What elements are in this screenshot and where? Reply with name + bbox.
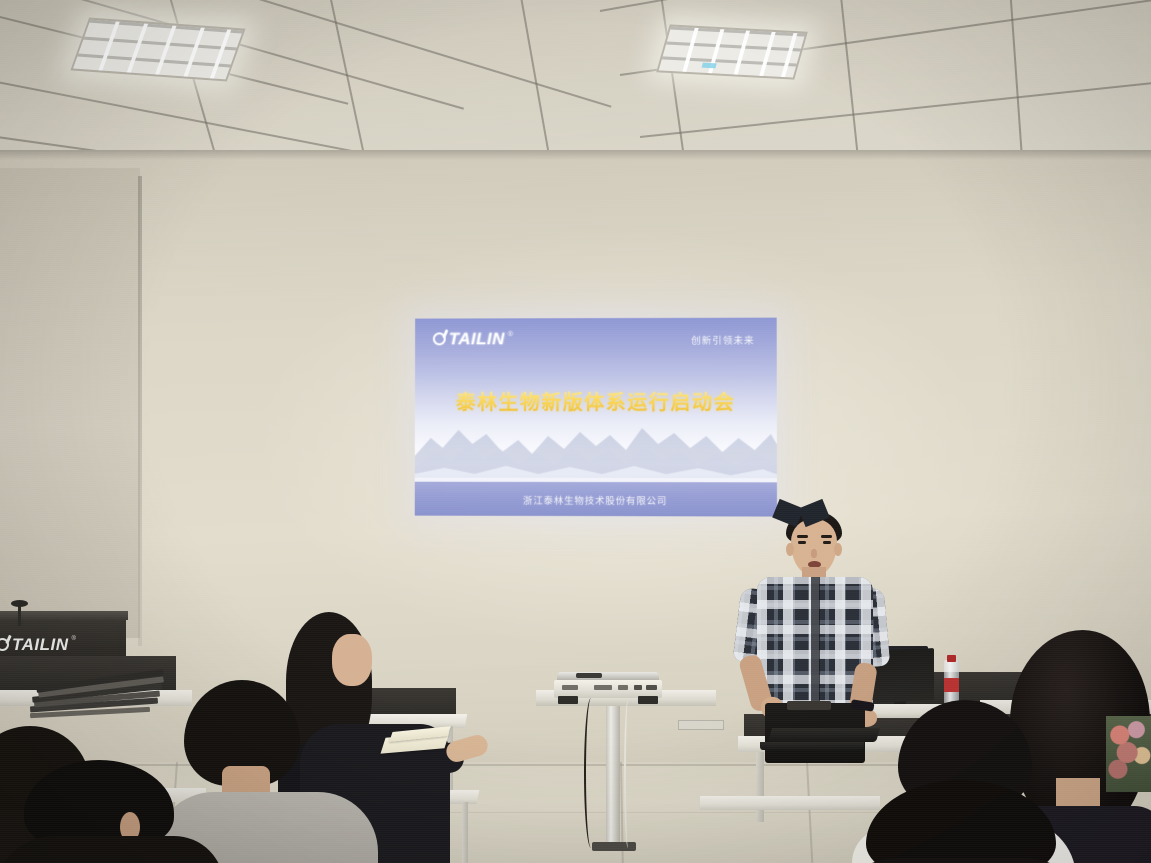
tailin-droplet-ring-icon (0, 638, 9, 651)
projector-power-cable (584, 698, 598, 848)
ceiling-light-left (70, 17, 245, 81)
desk-surface-lowerright (700, 796, 880, 810)
desk-leg (756, 752, 764, 822)
slide-company-name: 浙江泰林生物技术股份有限公司 (415, 493, 777, 508)
ceiling-wall-joint (0, 150, 1151, 160)
projector-vga-cable (624, 700, 632, 848)
podium-tailin-logo: TAILIN ® (0, 636, 76, 653)
slide-tailin-logo: TAILIN ® (433, 330, 513, 347)
conference-room-scene: TAILIN ® 创新引领未来 泰林生物新版体系运行启动会 浙江泰林生物技术股份… (0, 0, 1151, 863)
registered-trademark-icon: ® (508, 331, 513, 338)
floor-power-strip (678, 720, 724, 730)
presenter-belt (787, 701, 831, 710)
projected-slide: TAILIN ® 创新引领未来 泰林生物新版体系运行启动会 浙江泰林生物技术股份… (415, 318, 777, 517)
slide-title: 泰林生物新版体系运行启动会 (415, 386, 777, 415)
water-bottle-cap (947, 655, 956, 662)
audience-torso (0, 836, 224, 863)
presenter-laptop-base[interactable] (768, 728, 880, 742)
registered-trademark-icon: ® (72, 636, 76, 642)
projector-stand-column (606, 706, 620, 848)
podium-microphone-stem (18, 604, 21, 626)
projector (554, 672, 662, 698)
podium-logo-wordmark: TAILIN (12, 636, 69, 653)
microphone-icon (11, 600, 28, 607)
audience-head (332, 634, 372, 686)
desk-leg (462, 802, 468, 863)
flower-bouquet (1106, 716, 1151, 792)
left-wall-panel (0, 168, 140, 638)
projector-handle (576, 673, 602, 678)
presenter-laptop-keyboard-deck[interactable] (760, 742, 864, 750)
ceiling-light-right (656, 24, 808, 79)
water-bottle-label (944, 678, 959, 692)
wall-corner-edge (138, 176, 142, 646)
tailin-droplet-ring-icon (433, 332, 446, 345)
slide-logo-wordmark: TAILIN (449, 330, 505, 347)
slide-tagline: 创新引领未来 (691, 333, 754, 347)
